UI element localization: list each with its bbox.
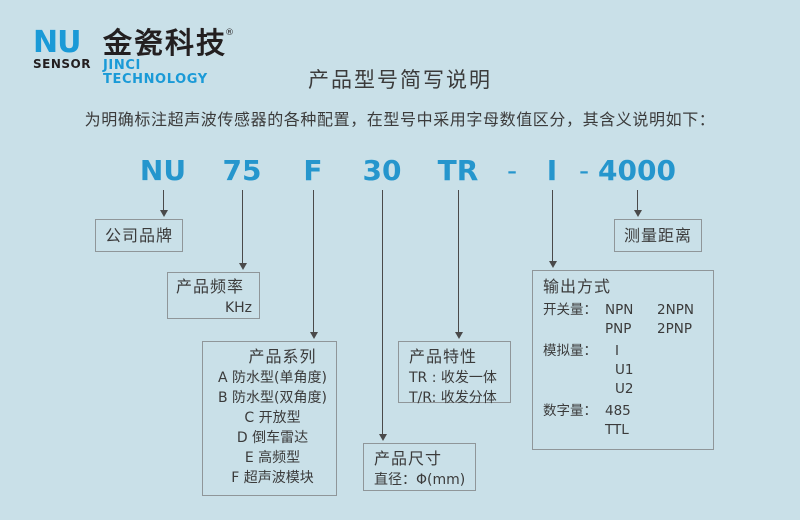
callout-title-output-type: 输出方式 bbox=[543, 276, 713, 298]
callout-item-product-series: D 倒车雷达 bbox=[203, 428, 336, 448]
model-code-segment: TR bbox=[438, 155, 479, 187]
callout-box-product-size: 产品尺寸 直径：Φ(mm) bbox=[363, 443, 476, 491]
output-value-alt: 2PNP bbox=[657, 320, 692, 339]
callout-box-product-frequency: 产品频率 KHz bbox=[167, 272, 260, 319]
output-group-label: 模拟量： bbox=[543, 342, 605, 399]
leader-line bbox=[242, 190, 243, 263]
output-value-row: I bbox=[615, 342, 667, 361]
callout-item-product-size: 直径：Φ(mm) bbox=[374, 470, 475, 490]
callout-list-product-size: 直径：Φ(mm) bbox=[374, 470, 475, 490]
output-group: 数字量：485TTL bbox=[543, 402, 713, 440]
output-group: 模拟量：IU1U2 bbox=[543, 342, 713, 399]
output-value-row: 485 bbox=[605, 402, 657, 421]
output-value-alt: 2NPN bbox=[657, 301, 694, 320]
output-value-row: U2 bbox=[615, 380, 667, 399]
output-value-row: NPN2NPN bbox=[605, 301, 694, 320]
leader-line bbox=[313, 190, 314, 332]
output-value: U2 bbox=[615, 380, 667, 399]
callout-list-output-type: 开关量：NPN2NPNPNP2PNP模拟量：IU1U2数字量：485TTL bbox=[543, 301, 713, 440]
leader-line bbox=[637, 190, 638, 210]
output-value: 485 bbox=[605, 402, 657, 421]
leader-line bbox=[552, 190, 553, 261]
logo-company-name-cn: 金瓷科技 bbox=[103, 27, 227, 59]
output-group-label: 数字量： bbox=[543, 402, 605, 440]
callout-title-company-brand: 公司品牌 bbox=[96, 220, 182, 251]
leader-arrowhead-icon bbox=[549, 261, 557, 268]
callout-item-product-feature: T/R: 收发分体 bbox=[409, 388, 510, 408]
callout-item-product-series: F 超声波模块 bbox=[203, 468, 336, 488]
callout-unit-khz: KHz bbox=[168, 298, 252, 318]
callout-title-product-series: 产品系列 bbox=[203, 346, 336, 368]
output-value-row: PNP2PNP bbox=[605, 320, 694, 339]
diagram-canvas: NU SENSOR 金瓷科技 ® JINCI TECHNOLOGY 产品型号简写… bbox=[0, 0, 800, 520]
leader-line bbox=[382, 190, 383, 434]
callout-item-product-series: C 开放型 bbox=[203, 408, 336, 428]
model-code-segment: I bbox=[547, 155, 557, 187]
output-group-values: NPN2NPNPNP2PNP bbox=[605, 301, 694, 339]
output-value-row: TTL bbox=[605, 421, 657, 440]
output-value: I bbox=[615, 342, 667, 361]
output-value: TTL bbox=[605, 421, 657, 440]
output-group-label: 开关量： bbox=[543, 301, 605, 339]
output-group-values: 485TTL bbox=[605, 402, 657, 440]
callout-list-product-series: A 防水型(单角度)B 防水型(双角度)C 开放型D 倒车雷达E 高频型F 超声… bbox=[203, 368, 336, 488]
output-group-values: IU1U2 bbox=[605, 342, 667, 399]
leader-line bbox=[163, 190, 164, 210]
leader-arrowhead-icon bbox=[455, 332, 463, 339]
callout-title-product-size: 产品尺寸 bbox=[374, 448, 475, 470]
leader-line bbox=[458, 190, 459, 332]
callout-item-product-series: B 防水型(双角度) bbox=[203, 388, 336, 408]
callout-title-measure-distance: 测量距离 bbox=[615, 220, 701, 251]
output-value: PNP bbox=[605, 320, 657, 339]
model-code-segment: F bbox=[303, 155, 322, 187]
output-value-row: U1 bbox=[615, 361, 667, 380]
leader-arrowhead-icon bbox=[239, 263, 247, 270]
output-group: 开关量：NPN2NPNPNP2PNP bbox=[543, 301, 713, 339]
callout-list-product-feature: TR : 收发一体T/R: 收发分体 bbox=[409, 368, 510, 408]
model-code-segment: 30 bbox=[363, 155, 402, 187]
callout-item-product-feature: TR : 收发一体 bbox=[409, 368, 510, 388]
callout-item-product-series: A 防水型(单角度) bbox=[203, 368, 336, 388]
callout-box-company-brand: 公司品牌 bbox=[95, 219, 183, 252]
leader-arrowhead-icon bbox=[160, 210, 168, 217]
model-code-segment: - bbox=[507, 155, 517, 187]
logo-mark-nu: NU bbox=[33, 28, 80, 58]
callout-box-measure-distance: 测量距离 bbox=[614, 219, 702, 252]
callout-box-output-type: 输出方式 开关量：NPN2NPNPNP2PNP模拟量：IU1U2数字量：485T… bbox=[532, 270, 714, 450]
model-code-segment: NU bbox=[140, 155, 186, 187]
model-code-segment: 75 bbox=[223, 155, 262, 187]
page-title: 产品型号简写说明 bbox=[0, 64, 800, 94]
leader-arrowhead-icon bbox=[379, 434, 387, 441]
callout-title-product-feature: 产品特性 bbox=[409, 346, 510, 368]
callout-title-product-frequency: 产品频率 bbox=[168, 276, 252, 298]
registered-trademark-icon: ® bbox=[225, 28, 234, 38]
output-value: U1 bbox=[615, 361, 667, 380]
page-subtitle: 为明确标注超声波传感器的各种配置，在型号中采用字母数值区分，其含义说明如下： bbox=[0, 106, 800, 130]
callout-box-product-series: 产品系列 A 防水型(单角度)B 防水型(双角度)C 开放型D 倒车雷达E 高频… bbox=[202, 341, 337, 496]
callout-item-product-series: E 高频型 bbox=[203, 448, 336, 468]
output-value: NPN bbox=[605, 301, 657, 320]
model-code-segment: 4000 bbox=[598, 155, 676, 187]
callout-box-product-feature: 产品特性 TR : 收发一体T/R: 收发分体 bbox=[398, 341, 511, 403]
model-code-segment: - bbox=[579, 155, 589, 187]
leader-arrowhead-icon bbox=[310, 332, 318, 339]
leader-arrowhead-icon bbox=[634, 210, 642, 217]
